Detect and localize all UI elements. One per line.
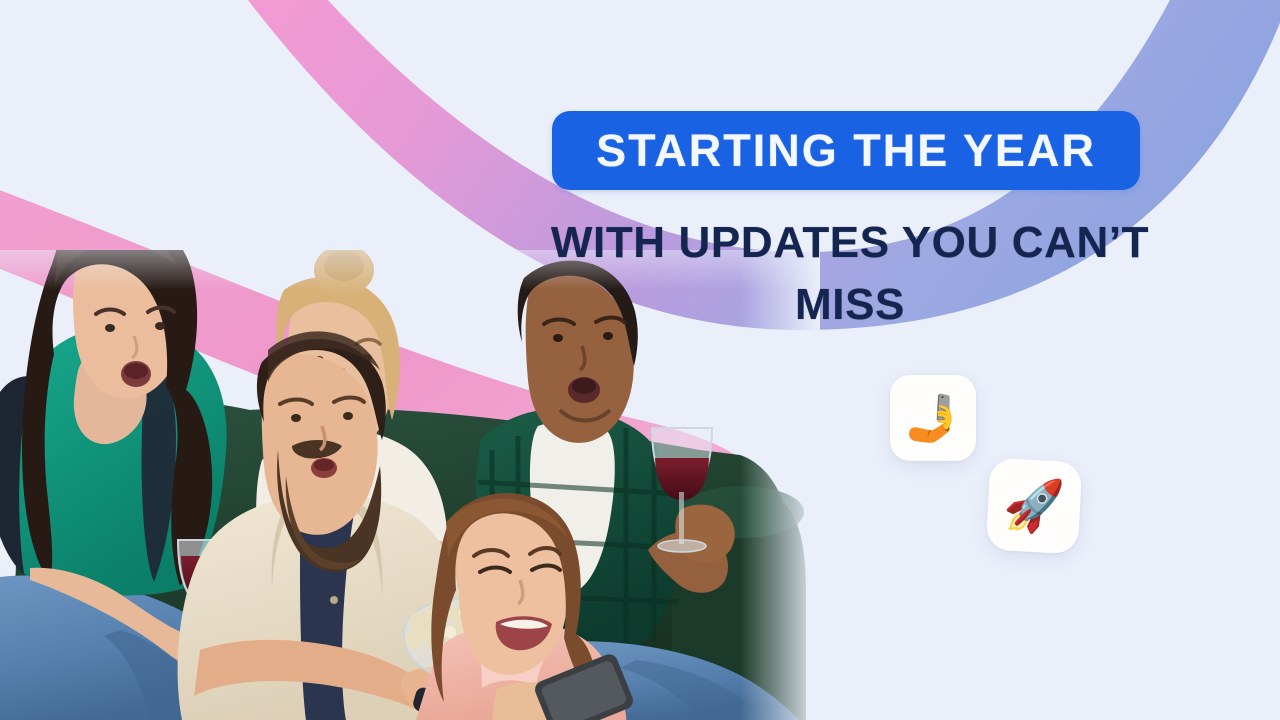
subheadline: WITH UPDATES YOU CAN’T MISS: [470, 212, 1230, 337]
selfie-emoji-icon: 🤳: [904, 395, 961, 441]
headline-badge: STARTING THE YEAR: [552, 111, 1140, 190]
rocket-app-card[interactable]: 🚀: [986, 458, 1083, 555]
subheadline-line-2: MISS: [470, 274, 1230, 336]
promo-banner: STARTING THE YEAR WITH UPDATES YOU CAN’T…: [0, 0, 1280, 720]
rocket-emoji-icon: 🚀: [1003, 481, 1065, 531]
subheadline-line-1: WITH UPDATES YOU CAN’T: [551, 218, 1149, 267]
headline-badge-text: STARTING THE YEAR: [596, 128, 1096, 173]
selfie-app-card[interactable]: 🤳: [890, 375, 976, 461]
